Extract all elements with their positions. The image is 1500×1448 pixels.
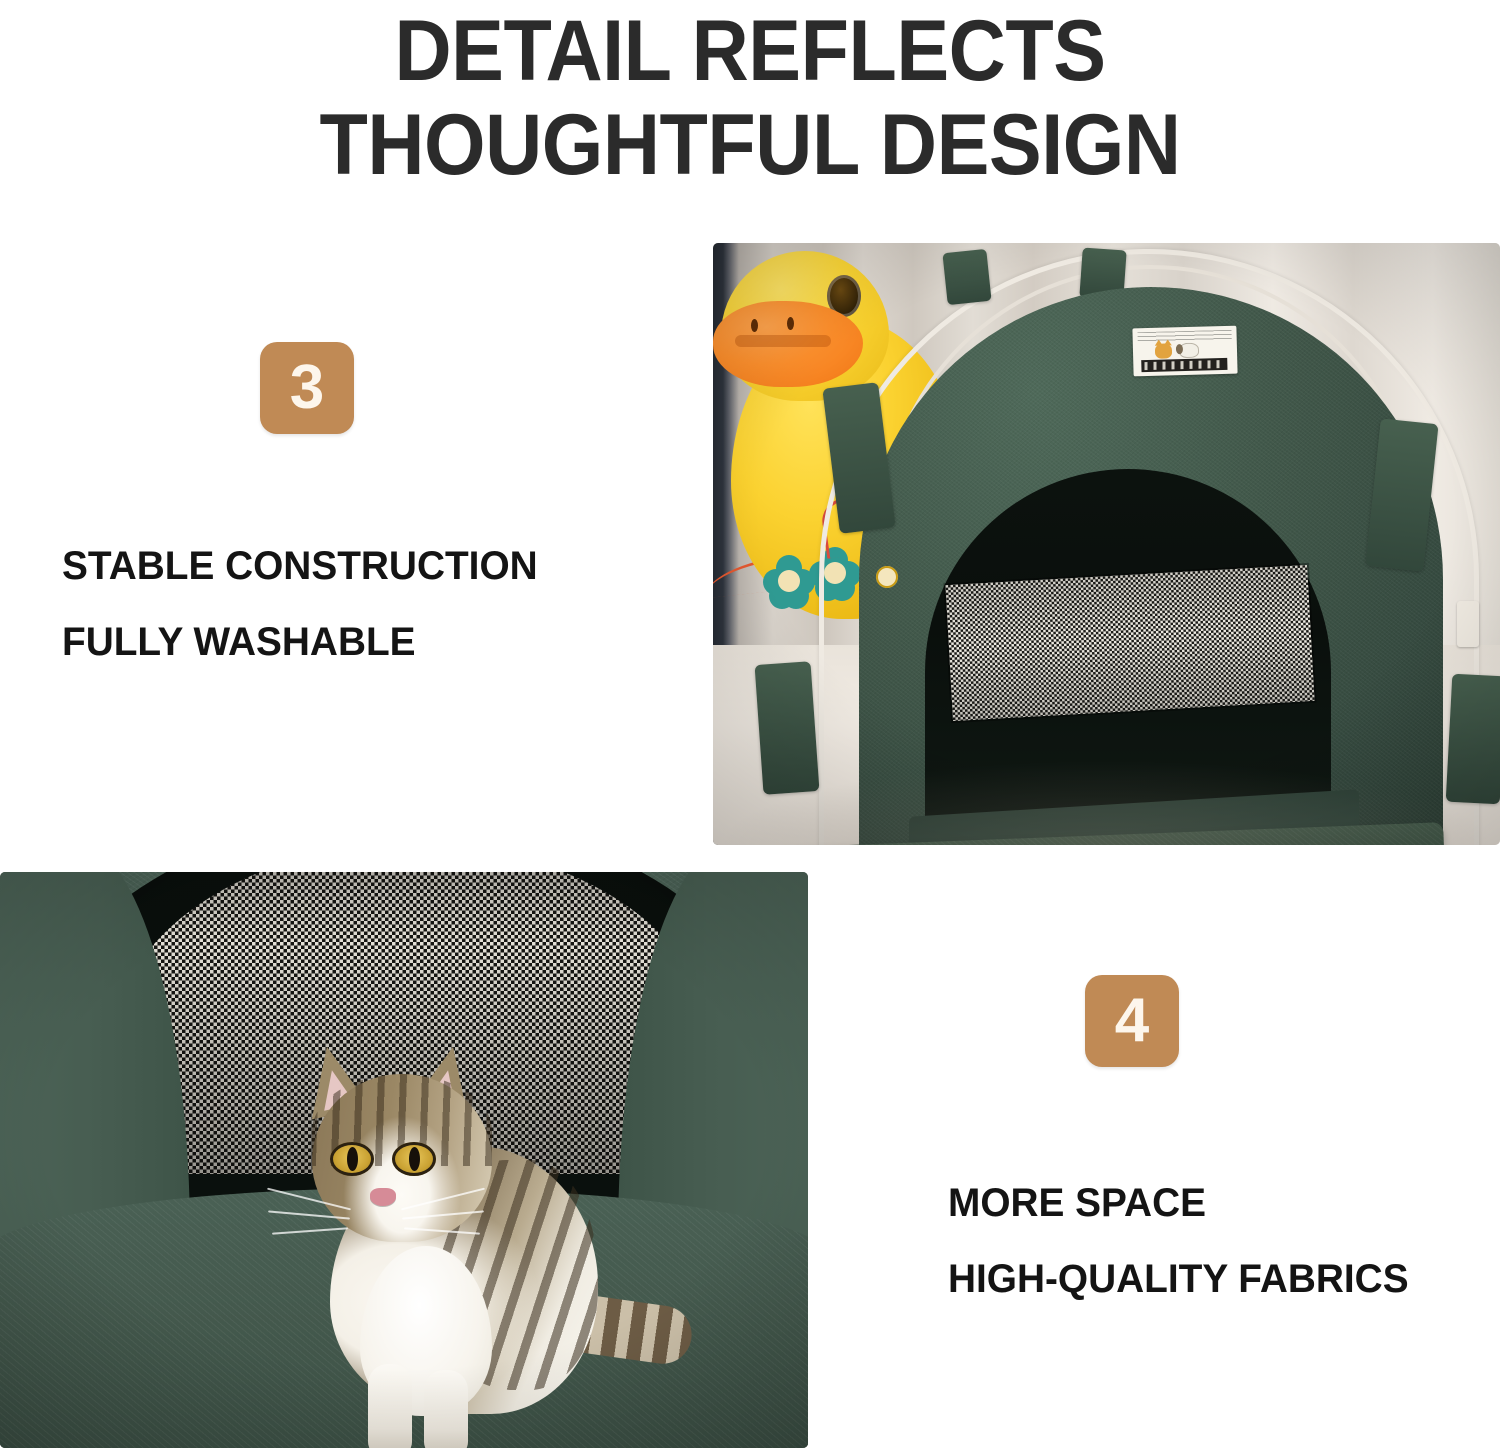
feature-number-badge-3: 3: [260, 342, 354, 434]
cat-icon: [1155, 343, 1172, 358]
headline-line-2: THOUGHTFUL DESIGN: [60, 98, 1440, 192]
cat-front-leg: [424, 1370, 468, 1448]
cat-whiskers: [266, 1190, 486, 1260]
feature-text-4: MORE SPACE HIGH-QUALITY FABRICS: [948, 1165, 1423, 1317]
product-photo-tent: [713, 243, 1500, 845]
care-label-tag: [1132, 326, 1237, 377]
feature-3-line-2: FULLY WASHABLE: [62, 604, 538, 680]
cat-front-leg: [368, 1364, 412, 1448]
duck-flower-print: [763, 555, 815, 607]
feature-4-line-1: MORE SPACE: [948, 1165, 1409, 1241]
duck-nostril: [751, 319, 758, 332]
cat-eye-right: [392, 1142, 436, 1176]
feature-text-3: STABLE CONSTRUCTION FULLY WASHABLE: [62, 528, 552, 680]
product-photo-cat-inside: [0, 872, 808, 1448]
duck-beak: [713, 301, 863, 387]
tent-mesh-shading: [945, 565, 1314, 721]
feature-4-line-2: HIGH-QUALITY FABRICS: [948, 1241, 1409, 1317]
tent-ground-shadow: [713, 725, 1500, 845]
duck-nostril: [787, 317, 794, 330]
headline-line-1: DETAIL REFLECTS: [60, 0, 1440, 98]
tabby-cat: [252, 1050, 672, 1448]
tent-fabric-tab: [942, 249, 991, 305]
dog-icon: [1179, 343, 1199, 359]
care-label-brand-bar: [1141, 358, 1227, 372]
tent-rod-buckle: [1457, 601, 1479, 647]
feature-3-line-1: STABLE CONSTRUCTION: [62, 528, 538, 604]
care-label-text-lines: [1137, 330, 1231, 343]
cat-eye-left: [330, 1142, 374, 1176]
feature-number-badge-4: 4: [1085, 975, 1179, 1067]
care-label-pet-illustration: [1155, 342, 1213, 360]
page-title: DETAIL REFLECTS THOUGHTFUL DESIGN: [0, 0, 1500, 192]
